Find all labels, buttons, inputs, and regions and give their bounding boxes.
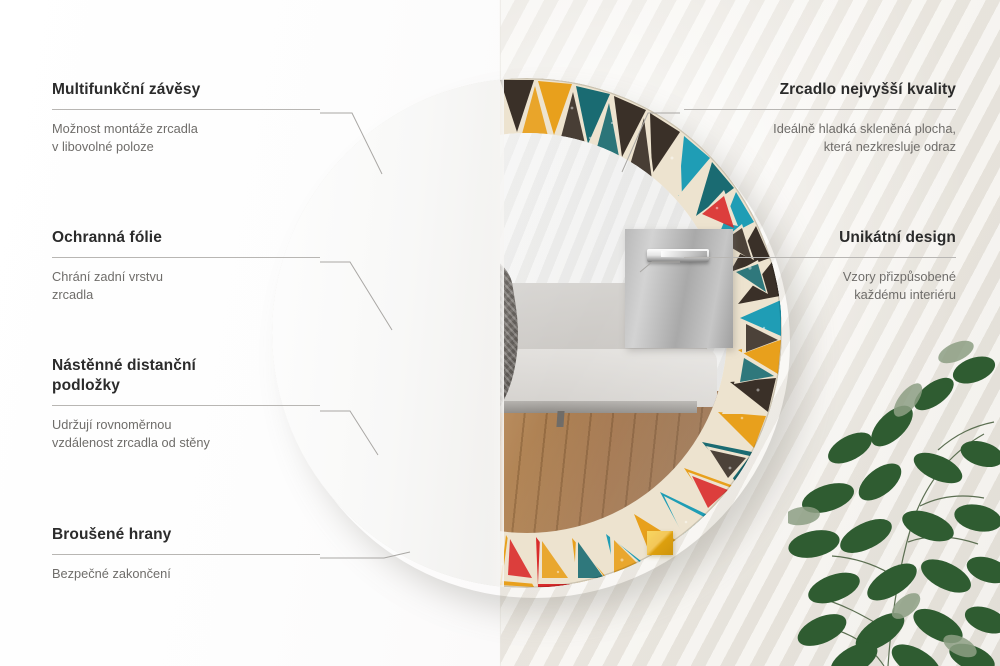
leader-line-edges bbox=[320, 552, 410, 558]
callout-unique-design: Unikátní design Vzory přizpůsobené každé… bbox=[684, 228, 956, 304]
callout-description: Udržují rovnoměrnou vzdálenost zrcadla o… bbox=[52, 416, 320, 452]
callout-description: Vzory přizpůsobené každému interiéru bbox=[684, 268, 956, 304]
callout-title: Zrcadlo nejvyšší kvality bbox=[684, 80, 956, 100]
callout-multifunctional-hangers: Multifunkční závěsy Možnost montáže zrca… bbox=[52, 80, 320, 156]
callout-title: Ochranná fólie bbox=[52, 228, 320, 248]
callout-top-quality-mirror: Zrcadlo nejvyšší kvality Ideálně hladká … bbox=[684, 80, 956, 156]
callout-title: Nástěnné distanční podložky bbox=[52, 356, 320, 396]
callout-ground-edges: Broušené hrany Bezpečné zakončení bbox=[52, 525, 320, 583]
callout-rule bbox=[52, 554, 320, 555]
callout-rule bbox=[684, 109, 956, 110]
callout-description: Chrání zadní vrstvu zrcadla bbox=[52, 268, 320, 304]
leader-line-quality bbox=[622, 113, 680, 172]
callout-title: Broušené hrany bbox=[52, 525, 320, 545]
callout-description: Bezpečné zakončení bbox=[52, 565, 320, 583]
callout-rule bbox=[52, 257, 320, 258]
callout-title: Multifunkční závěsy bbox=[52, 80, 320, 100]
callout-title: Unikátní design bbox=[684, 228, 956, 248]
leader-line-foil bbox=[320, 262, 392, 330]
leader-line-hangers bbox=[320, 113, 382, 174]
callout-description: Možnost montáže zrcadla v libovolné polo… bbox=[52, 120, 320, 156]
callout-rule bbox=[52, 109, 320, 110]
callout-description: Ideálně hladká skleněná plocha, která ne… bbox=[684, 120, 956, 156]
callout-protective-foil: Ochranná fólie Chrání zadní vrstvu zrcad… bbox=[52, 228, 320, 304]
leader-line-spacers bbox=[320, 411, 378, 455]
callout-rule bbox=[684, 257, 956, 258]
leader-line-design bbox=[640, 262, 680, 272]
callout-wall-spacers: Nástěnné distanční podložky Udržují rovn… bbox=[52, 356, 320, 452]
callout-rule bbox=[52, 405, 320, 406]
infographic-canvas: Multifunkční závěsy Možnost montáže zrca… bbox=[0, 0, 1000, 666]
